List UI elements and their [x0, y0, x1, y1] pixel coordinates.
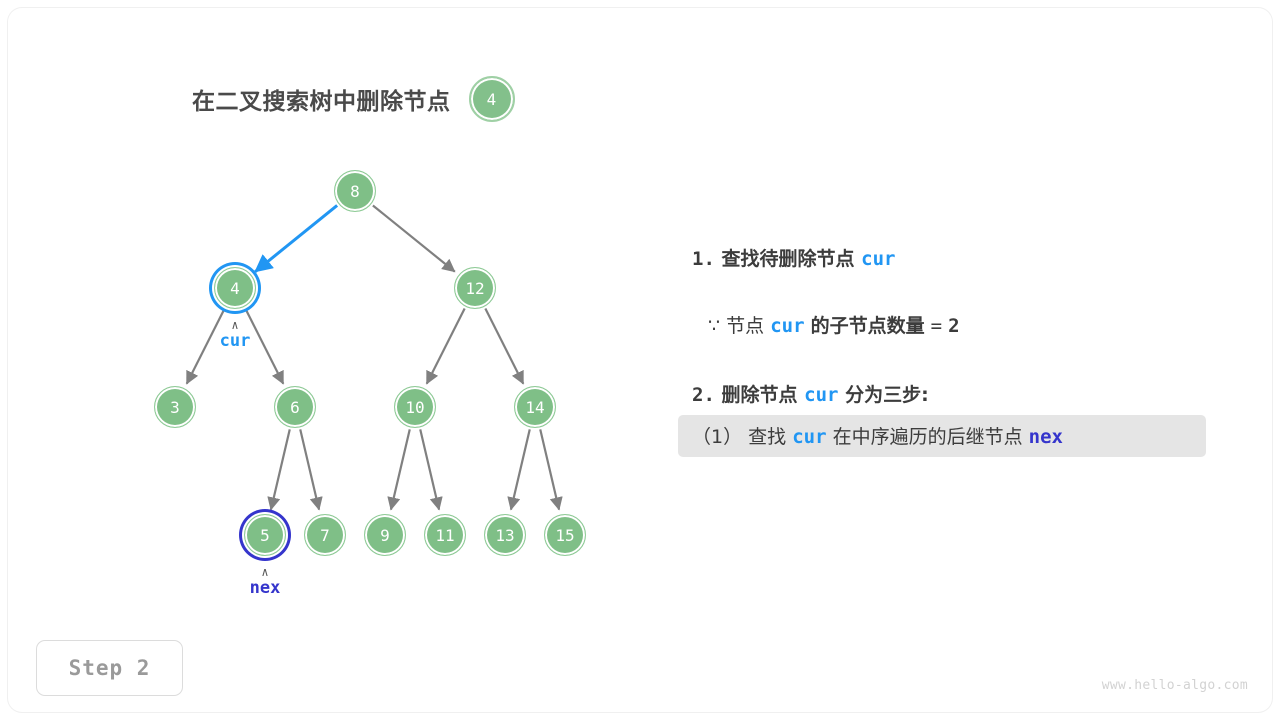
substep-1-var-nex: nex [1029, 426, 1063, 448]
step-2-text-before: 删除节点 [722, 384, 798, 406]
reason-equals: = [931, 315, 942, 337]
tree-edge [427, 309, 465, 384]
tree-node-15: 15 [544, 514, 586, 556]
substep-1-var-cur: cur [792, 426, 826, 448]
tree-node-9: 9 [364, 514, 406, 556]
tree-node-14: 14 [514, 386, 556, 428]
ptr-cur-text: cur [220, 331, 251, 351]
tree-node-10: 10 [394, 386, 436, 428]
tree-edge [540, 429, 559, 509]
tree-edge [373, 205, 455, 271]
reason-text-after: 的子节点数量 [811, 315, 925, 337]
tree-node-3: 3 [154, 386, 196, 428]
reason-value: 2 [948, 315, 959, 337]
ptr-nex: ∧nex [220, 567, 310, 598]
reason-text-before: 节点 [726, 315, 764, 337]
ptr-nex-text: nex [250, 578, 281, 598]
step-badge: Step 2 [36, 640, 183, 696]
tree-node-8: 8 [334, 170, 376, 212]
tree-edge [300, 429, 319, 509]
tree-edge [391, 429, 410, 509]
tree-node-7: 7 [304, 514, 346, 556]
step-2-var-cur: cur [804, 384, 838, 406]
substep-1-index: （1） [692, 426, 742, 448]
tree-edge [420, 429, 439, 509]
reason-var-cur: cur [770, 315, 804, 337]
tree-node-6: 6 [274, 386, 316, 428]
substep-1-text-mid: 在中序遍历的后继节点 [833, 426, 1023, 448]
caret-icon: ∧ [220, 567, 310, 578]
explanation-panel: 1. 查找待删除节点 cur ∵ 节点 cur 的子节点数量 = 2 2. 删除… [692, 244, 1222, 457]
watermark: www.hello-algo.com [1102, 678, 1248, 693]
tree-edge [271, 429, 290, 509]
step-1-var-cur: cur [861, 248, 895, 270]
step-1-text: 查找待删除节点 [722, 248, 855, 270]
step-2-index: 2. [692, 384, 715, 406]
step-1-index: 1. [692, 248, 715, 270]
tree-edge [255, 205, 337, 271]
step-2-text-after: 分为三步: [845, 384, 929, 406]
title-row: 在二叉搜索树中删除节点 4 [192, 76, 515, 122]
panel-substep-1: （1） 查找 cur 在中序遍历的后继节点 nex [678, 415, 1206, 457]
tree-node-12: 12 [454, 267, 496, 309]
tree-node-11: 11 [424, 514, 466, 556]
panel-reason: ∵ 节点 cur 的子节点数量 = 2 [708, 311, 1222, 338]
tree-node-13: 13 [484, 514, 526, 556]
tree-node-4: 4 [214, 267, 256, 309]
substep-1-text-before: 查找 [748, 426, 786, 448]
title-badge-node: 4 [469, 76, 515, 122]
page-title: 在二叉搜索树中删除节点 [192, 82, 451, 116]
tree-node-5: 5 [244, 514, 286, 556]
diagram-canvas: 在二叉搜索树中删除节点 4 8412361014579111315 ∧cur∧n… [0, 0, 1280, 720]
caret-icon: ∧ [190, 320, 280, 331]
tree-edge [511, 429, 530, 509]
panel-step-2: 2. 删除节点 cur 分为三步: [692, 380, 1222, 407]
ptr-cur: ∧cur [190, 320, 280, 351]
because-symbol: ∵ [708, 315, 720, 337]
tree-edge [485, 309, 523, 384]
panel-step-1: 1. 查找待删除节点 cur [692, 244, 1222, 271]
